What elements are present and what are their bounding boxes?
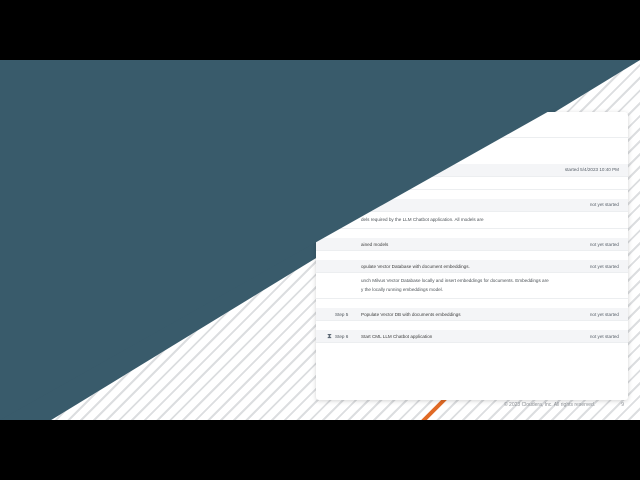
panel-gap [316, 251, 628, 260]
row-title: opulate Vector Database with document em… [361, 264, 582, 269]
description-line-1: unch Milvus Vector Database locally and … [361, 278, 549, 283]
status-badge: not yet started [590, 312, 619, 317]
panel-row-description: o build a edge base. This [316, 112, 628, 138]
description-line-2: edge base. This [361, 125, 394, 130]
description-line-1: dels required by the LLM Chatbot applica… [361, 217, 484, 222]
panel-gap [316, 321, 628, 330]
table-row[interactable]: Step 5 Populate Vector DB with documents… [316, 308, 628, 321]
video-player-frame: o build a edge base. This started 5/4/20… [0, 0, 640, 480]
presentation-slide: o build a edge base. This started 5/4/20… [0, 60, 640, 420]
status-badge: not yet started [590, 242, 619, 247]
panel-gap [316, 190, 628, 199]
cloudera-c-logo-icon [12, 70, 68, 126]
row-step-label: Step 5 [335, 312, 361, 317]
table-row[interactable]: started 5/4/2023 10:40 PM [316, 164, 628, 177]
table-row[interactable]: ops/requirements.txt [316, 177, 628, 190]
status-badge: not yet started [590, 202, 619, 207]
slide-footer: © 2023 Cloudera, Inc. All rights reserve… [0, 402, 640, 408]
panel-gap [316, 229, 628, 238]
panel-row-description: dels required by the LLM Chatbot applica… [316, 212, 628, 229]
slide-title: LLM ChatBot Augmented With Enterprise Da… [57, 207, 347, 301]
hourglass-icon: ⧗ [324, 333, 335, 340]
panel-row-description: unch Milvus Vector Database locally and … [316, 273, 628, 299]
row-step-label: Step 6 [335, 334, 361, 339]
copyright-text: © 2023 Cloudera, Inc. All rights reserve… [504, 402, 595, 408]
status-badge: not yet started [590, 334, 619, 339]
row-title: ained models [361, 242, 582, 247]
row-title: Start CML LLM Chatbot application [361, 334, 582, 339]
row-title: Populate Vector DB with documents embedd… [361, 312, 582, 317]
table-row[interactable]: opulate Vector Database with document em… [316, 260, 628, 273]
slide-title-line-1: LLM ChatBot [57, 207, 347, 238]
description-line-2: y the locally running embeddings model. [361, 287, 443, 292]
panel-gap [316, 299, 628, 308]
status-badge: not yet started [590, 264, 619, 269]
table-row[interactable]: not yet started [316, 199, 628, 212]
app-screenshot-panel: o build a edge base. This started 5/4/20… [316, 112, 628, 400]
description-line-1: o build a [361, 117, 378, 122]
status-badge: started 5/4/2023 10:40 PM [565, 167, 619, 172]
slide-title-line-2: Augmented With [57, 238, 347, 269]
panel-gap [316, 138, 628, 164]
letterbox-bar-top [0, 0, 640, 60]
page-number: 9 [621, 402, 624, 408]
letterbox-bar-bottom [0, 420, 640, 480]
table-row[interactable]: ained models not yet started [316, 238, 628, 251]
slide-title-line-3: Enterprise Data [57, 269, 347, 300]
table-row[interactable]: ⧗ Step 6 Start CML LLM Chatbot applicati… [316, 330, 628, 343]
row-file-path: ops/requirements.txt [361, 180, 611, 185]
